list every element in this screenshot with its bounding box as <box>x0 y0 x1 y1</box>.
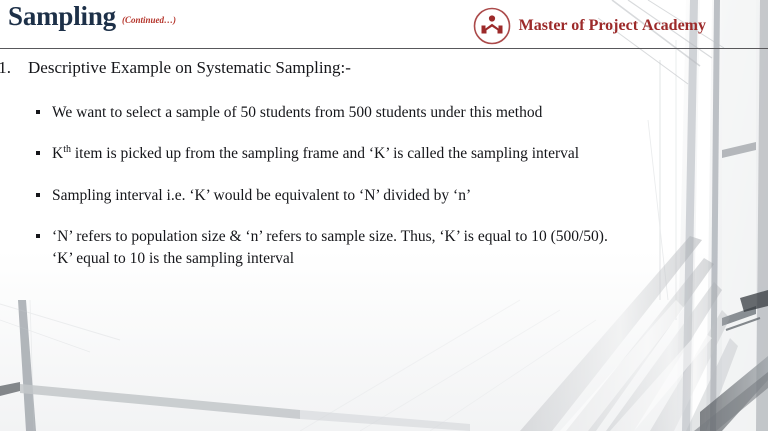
section-heading: .1.Descriptive Example on Systematic Sam… <box>0 58 351 78</box>
list-item-line: We want to select a sample of 50 student… <box>52 104 542 121</box>
kth-base: K <box>52 145 63 162</box>
square-bullet-icon <box>36 102 52 114</box>
list-item-text: ‘N’ refers to population size & ‘n’ refe… <box>52 226 608 269</box>
section-number: .1. <box>0 58 28 78</box>
brand-logo: Master of Project Academy <box>472 6 706 46</box>
list-item: Kth item is picked up from the sampling … <box>36 143 760 164</box>
academy-emblem-icon <box>472 6 512 46</box>
title-group: Sampling (Continued…) <box>8 3 176 30</box>
list-item-text: Sampling interval i.e. ‘K’ would be equi… <box>52 185 471 206</box>
list-item-line: ‘K’ equal to 10 is the sampling interval <box>52 248 608 269</box>
page-title: Sampling <box>8 3 116 30</box>
list-item: Sampling interval i.e. ‘K’ would be equi… <box>36 185 760 206</box>
brand-name-line2: Academy <box>642 17 706 34</box>
slide-header: Sampling (Continued…) Master of Project … <box>0 0 768 50</box>
list-item: ‘N’ refers to population size & ‘n’ refe… <box>36 226 760 269</box>
brand-name-line1: Master of Project <box>519 17 638 34</box>
kth-superscript: th <box>63 144 71 155</box>
section-heading-text: Descriptive Example on Systematic Sampli… <box>28 58 351 77</box>
header-divider <box>0 48 768 49</box>
list-item-line: item is picked up from the sampling fram… <box>71 145 579 162</box>
bullet-list: We want to select a sample of 50 student… <box>36 102 760 289</box>
list-item: We want to select a sample of 50 student… <box>36 102 760 123</box>
list-item-text: We want to select a sample of 50 student… <box>52 102 542 123</box>
title-continued-note: (Continued…) <box>122 15 176 25</box>
brand-name: Master of Project Academy <box>519 18 706 34</box>
square-bullet-icon <box>36 226 52 238</box>
list-item-text: Kth item is picked up from the sampling … <box>52 143 579 164</box>
presentation-slide: Sampling (Continued…) Master of Project … <box>0 0 768 431</box>
list-item-line: ‘N’ refers to population size & ‘n’ refe… <box>52 226 608 247</box>
square-bullet-icon <box>36 143 52 155</box>
list-item-line: Sampling interval i.e. ‘K’ would be equi… <box>52 187 471 204</box>
square-bullet-icon <box>36 185 52 197</box>
